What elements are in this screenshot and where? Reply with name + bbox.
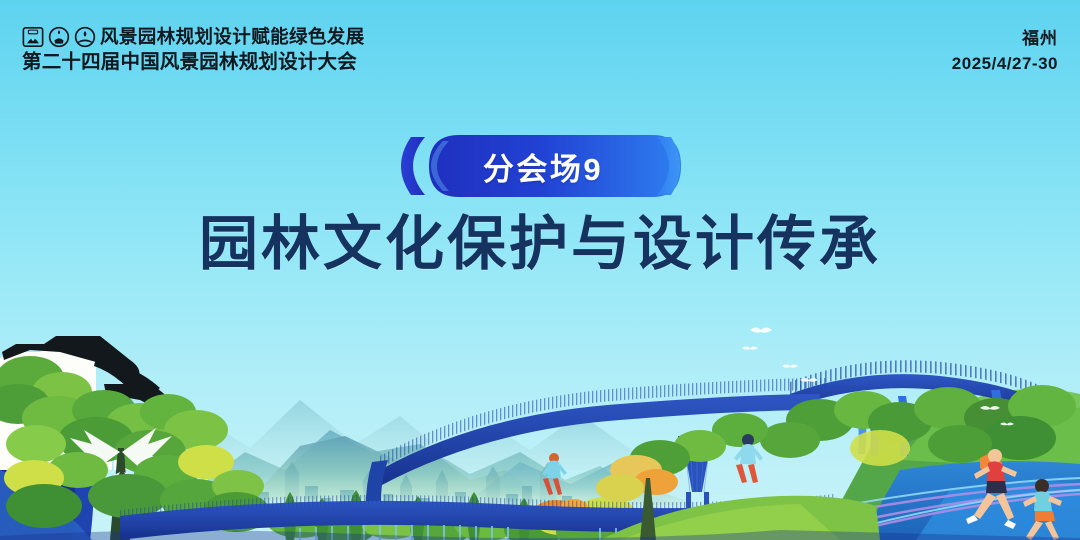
session-badge-wrap: 分会场9 (0, 133, 1080, 199)
conference-poster: 风景园林规划设计赋能绿色发展 第二十四届中国风景园林规划设计大会 福州 2025… (0, 0, 1080, 540)
header-right: 福州 2025/4/27-30 (952, 28, 1058, 75)
conference-emblem-3-icon (74, 26, 96, 48)
header-line1-row: 风景园林规划设计赋能绿色发展 (22, 26, 365, 48)
conference-emblem-2-icon (48, 26, 70, 48)
session-badge: 分会场9 (395, 133, 685, 199)
event-dates: 2025/4/27-30 (952, 53, 1058, 75)
session-badge-label: 分会场9 (395, 133, 685, 199)
header-left: 风景园林规划设计赋能绿色发展 第二十四届中国风景园林规划设计大会 (22, 26, 365, 74)
page-title: 园林文化保护与设计传承 (0, 212, 1080, 277)
conference-emblem-1-icon (22, 26, 44, 48)
event-city: 福州 (952, 28, 1058, 49)
header-conference-name: 第二十四届中国风景园林规划设计大会 (22, 51, 365, 74)
header-slogan: 风景园林规划设计赋能绿色发展 (100, 26, 365, 48)
